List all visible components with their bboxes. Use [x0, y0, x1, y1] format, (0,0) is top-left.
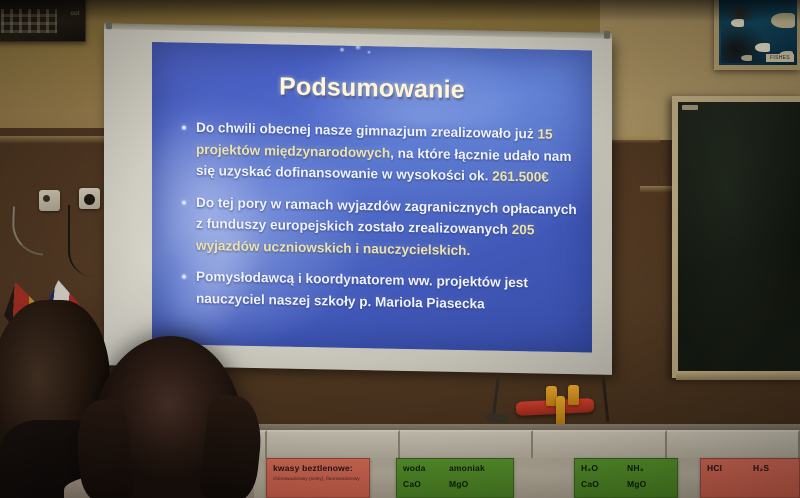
chem-card-cell: NH₃ — [627, 463, 657, 473]
chem-card-row-1: H₂O NH₃ — [581, 463, 671, 473]
projection-screen: Podsumowanie Do chwili obecnej nasze gim… — [104, 27, 612, 375]
chem-card-cell: CaO — [581, 479, 611, 489]
chem-card-row-1: woda amoniak — [403, 463, 507, 473]
person-hair-left — [74, 398, 135, 498]
slide-bullet-2: Do tej pory w ramach wyjazdów zagraniczn… — [176, 191, 582, 263]
chem-card-title: kwasy beztlenowe: — [273, 463, 363, 473]
outlet-hole — [84, 194, 95, 205]
poster-plate: FISHES — [766, 54, 794, 62]
chalkboard — [672, 96, 800, 378]
chem-card-cell: H₂O — [581, 463, 611, 473]
fish-icon — [755, 43, 770, 52]
chalkboard-surface — [678, 102, 800, 372]
lab-clamp — [556, 396, 565, 426]
slide-bullet-1: Do chwili obecnej nasze gimnazjum zreali… — [176, 117, 582, 189]
chem-card-row-2: CaO MgO — [581, 479, 671, 489]
slide-text: Pomysłodawcą i koordynatorem ww. projekt… — [196, 269, 528, 311]
slide-dust-marks — [336, 42, 376, 60]
chem-card-row-1: HCl H₂S — [707, 463, 793, 473]
chem-card-cell: MgO — [627, 479, 657, 489]
chem-card-cell: H₂S — [753, 463, 783, 473]
chem-card-kwasy: kwasy beztlenowe: chlorowodorowy (solny)… — [266, 458, 370, 498]
lab-clamp — [568, 385, 579, 405]
chem-card-cell: CaO — [403, 479, 433, 489]
chem-card-subtitle: chlorowodorowy (solny), fluorowodorowy — [273, 476, 363, 481]
chem-card-cell: MgO — [449, 479, 479, 489]
projected-slide: Podsumowanie Do chwili obecnej nasze gim… — [152, 42, 592, 352]
chem-card-cell: amoniak — [449, 463, 485, 473]
ceiling-shadow — [0, 0, 800, 22]
chem-card-row-2: CaO MgO — [403, 479, 507, 489]
slide-highlight-text: 261.500€ — [492, 169, 549, 185]
screen-knob-right — [604, 31, 610, 39]
slide-bullet-list: Do chwili obecnej nasze gimnazjum zreali… — [176, 117, 582, 327]
chem-card-cell: woda — [403, 463, 433, 473]
chem-card-h2o: H₂O NH₃ CaO MgO — [574, 458, 678, 498]
outlet-hole — [43, 195, 50, 202]
chem-card-hcl: HCl H₂S — [700, 458, 800, 498]
slide-text: Do chwili obecnej nasze gimnazjum zreali… — [196, 120, 537, 142]
screen-knob-left — [106, 21, 112, 29]
chalkboard-clip — [682, 105, 698, 110]
slide-bullet-3: Pomysłodawcą i koordynatorem ww. projekt… — [176, 266, 582, 317]
chalkboard-tray — [676, 371, 800, 380]
chem-card-cell: HCl — [707, 463, 737, 473]
classroom-photo: out FISHES Podsumowanie Do chwili obecne… — [0, 0, 800, 498]
chem-card-woda: woda amoniak CaO MgO — [396, 458, 514, 498]
fish-icon — [741, 55, 752, 61]
